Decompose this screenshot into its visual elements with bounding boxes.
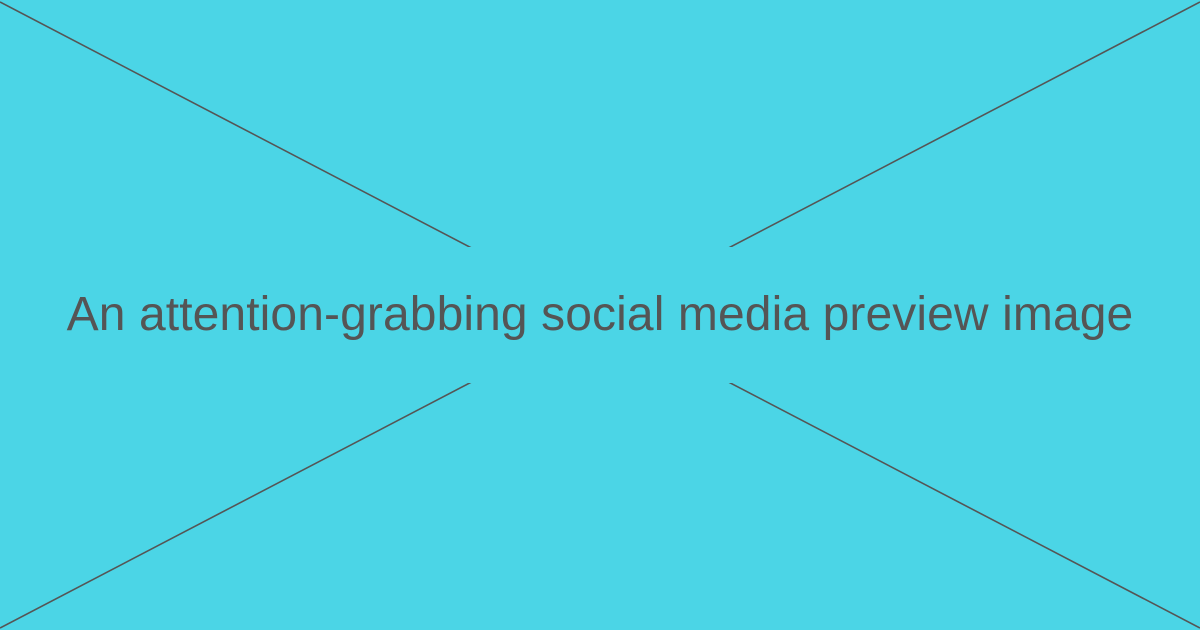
placeholder-caption: An attention-grabbing social media previ… (61, 247, 1140, 383)
social-preview-placeholder: An attention-grabbing social media previ… (0, 0, 1200, 630)
caption-layer: An attention-grabbing social media previ… (0, 0, 1200, 630)
